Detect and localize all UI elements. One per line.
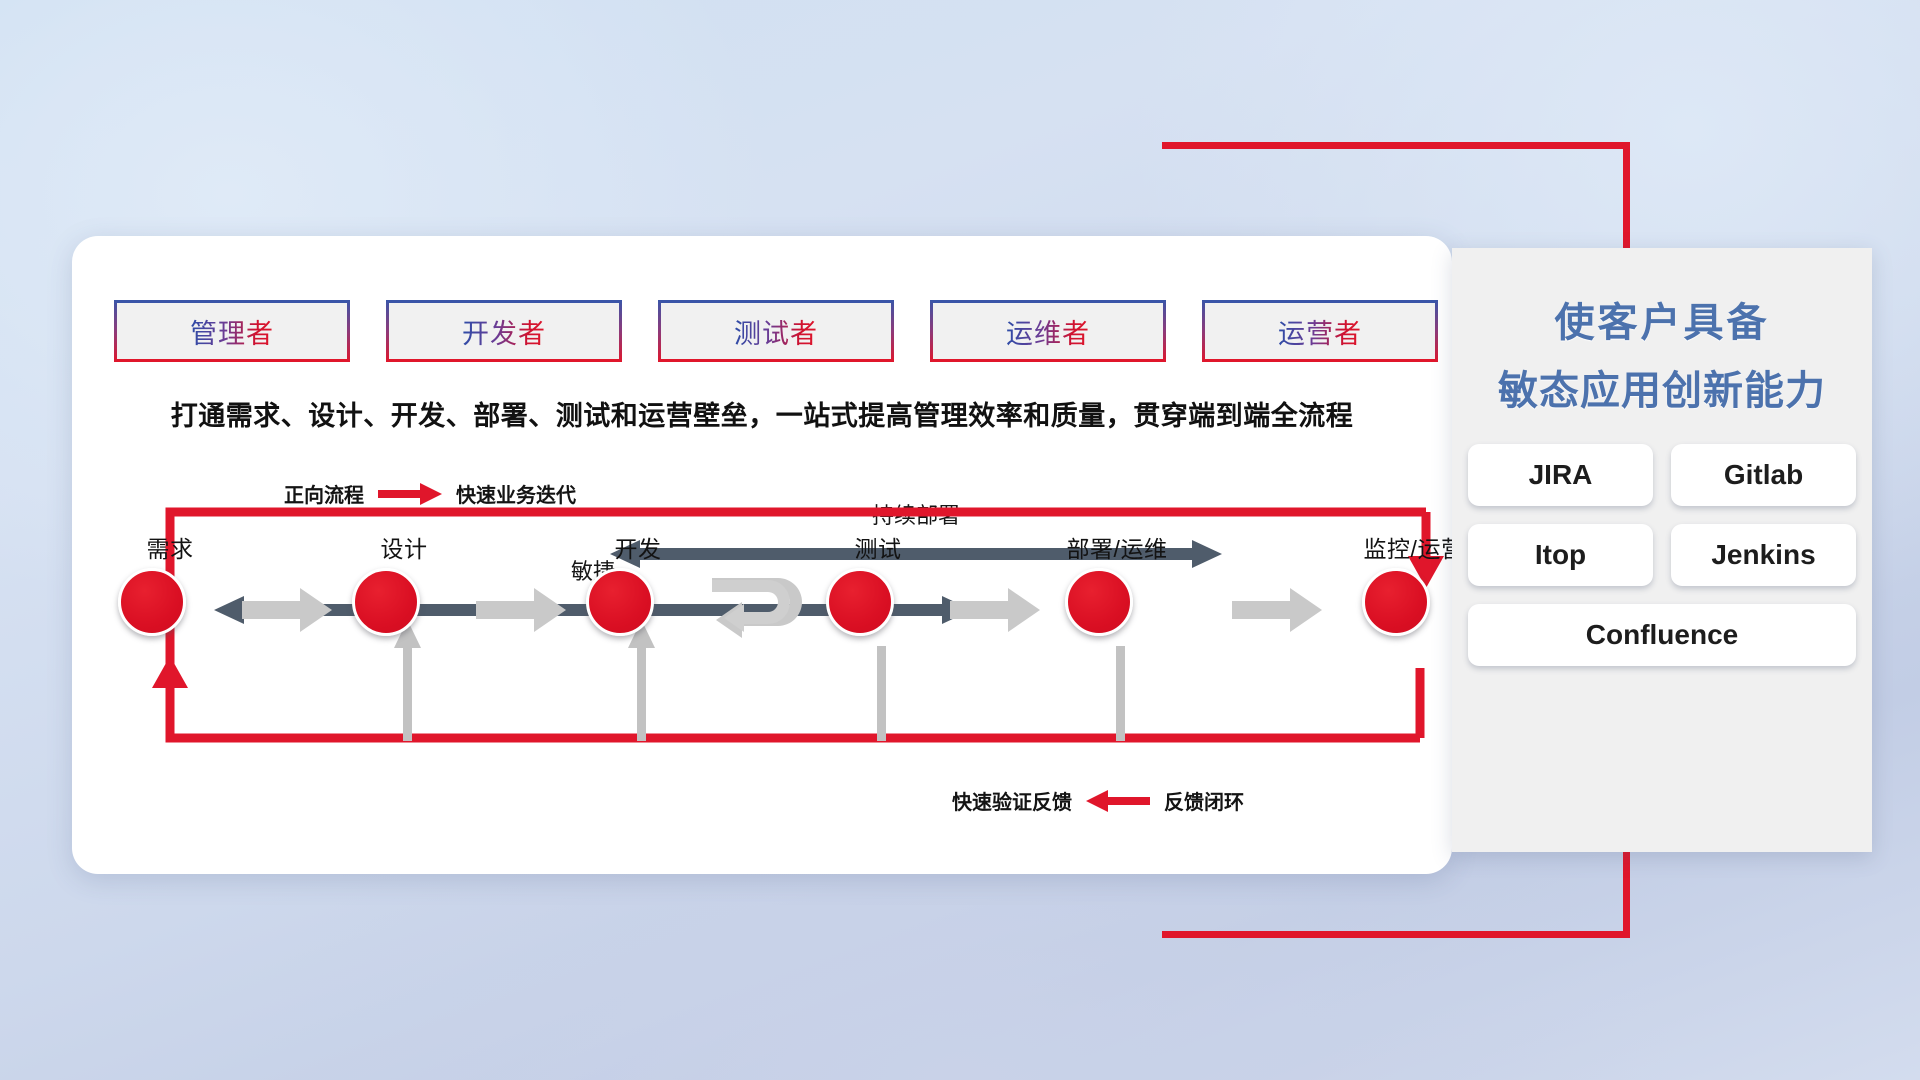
- pipeline-node-label: 开发: [615, 530, 662, 564]
- pipeline-node-4[interactable]: 部署/运维: [1057, 566, 1177, 686]
- pipeline-node-2[interactable]: 开发: [578, 566, 698, 686]
- value-proposition-panel: 使客户具备 敏态应用创新能力 JIRA Gitlab Itop Jenkins …: [1452, 248, 1872, 852]
- pipeline-node-dot: [586, 568, 654, 636]
- pipeline-node-dot: [1362, 568, 1430, 636]
- tool-chip-gitlab[interactable]: Gitlab: [1671, 444, 1856, 506]
- tool-chip-label: Itop: [1535, 539, 1586, 571]
- pipeline-node-1[interactable]: 设计: [344, 566, 464, 686]
- tool-chip-label: Gitlab: [1724, 459, 1803, 491]
- pipeline-connector-0-arrow-right-icon: [242, 588, 332, 632]
- pipeline-node-dot: [1065, 568, 1133, 636]
- main-diagram-card: 管理者 开发者 测试者 运维者: [72, 236, 1452, 874]
- slide-canvas: 管理者 开发者 测试者 运维者: [0, 0, 1920, 1080]
- pipeline-connector-3-arrow-right-icon: [950, 588, 1040, 632]
- pipeline-node-label: 需求: [147, 530, 194, 564]
- panel-title-line1: 使客户具备: [1452, 290, 1872, 348]
- pipeline-node-label: 监控/运营: [1364, 530, 1465, 564]
- pipeline-node-label: 部署/运维: [1067, 530, 1168, 564]
- pipeline-connector-2-loop-back-icon: [704, 574, 814, 646]
- pipeline-node-dot: [352, 568, 420, 636]
- pipeline-node-label: 设计: [381, 530, 428, 564]
- pipeline-connector-1-arrow-right-icon: [476, 588, 566, 632]
- node-stem-group: [72, 236, 1452, 874]
- pipeline-node-0[interactable]: 需求: [110, 566, 230, 686]
- pipeline-node-dot: [826, 568, 894, 636]
- tool-chip-label: JIRA: [1529, 459, 1593, 491]
- tool-chip-label: Jenkins: [1711, 539, 1815, 571]
- pipeline-node-dot: [118, 568, 186, 636]
- tool-chip-itop[interactable]: Itop: [1468, 524, 1653, 586]
- pipeline-connector-4-arrow-right-icon: [1232, 588, 1322, 632]
- tool-chip-confluence[interactable]: Confluence: [1468, 604, 1856, 666]
- tool-chip-jenkins[interactable]: Jenkins: [1671, 524, 1856, 586]
- devops-pipeline: 需求 设计 开发 测试 部署/运维 监控/运营: [72, 236, 1452, 874]
- panel-title-line2: 敏态应用创新能力: [1452, 358, 1872, 416]
- pipeline-node-label: 测试: [855, 530, 902, 564]
- tool-chip-grid: JIRA Gitlab Itop Jenkins Confluence: [1468, 444, 1856, 666]
- tool-chip-jira[interactable]: JIRA: [1468, 444, 1653, 506]
- pipeline-node-3[interactable]: 测试: [818, 566, 938, 686]
- tool-chip-label: Confluence: [1586, 619, 1738, 651]
